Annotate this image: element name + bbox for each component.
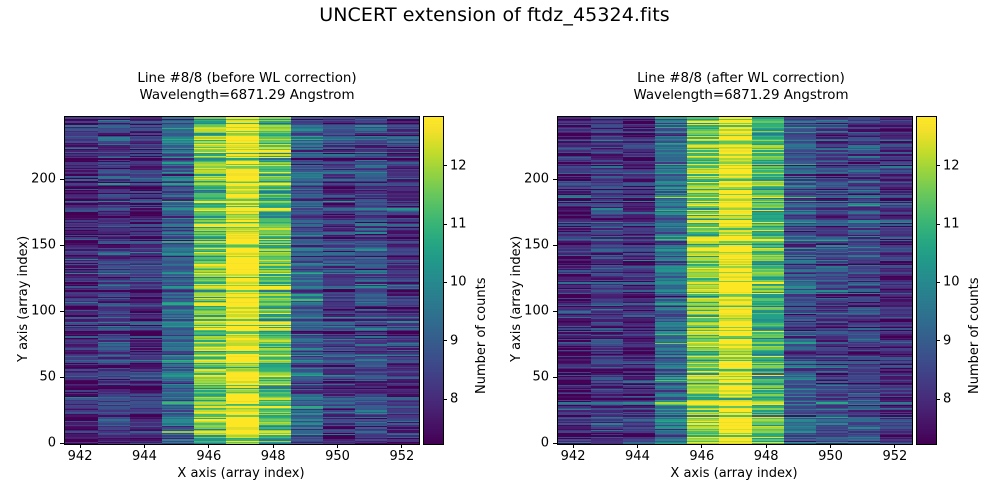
right-subplot-title: Line #8/8 (after WL correction) Waveleng… bbox=[493, 70, 989, 104]
x-tick-label: 948 bbox=[754, 449, 779, 464]
x-tick-mark bbox=[208, 444, 209, 448]
x-tick-label: 948 bbox=[261, 449, 286, 464]
y-tick-mark bbox=[553, 245, 557, 246]
y-tick-label: 50 bbox=[20, 370, 56, 385]
left-subplot: Line #8/8 (before WL correction) Wavelen… bbox=[0, 0, 494, 495]
right-x-axis-label: X axis (array index) bbox=[557, 466, 911, 481]
x-tick-label: 942 bbox=[561, 449, 586, 464]
x-tick-label: 944 bbox=[625, 449, 650, 464]
x-tick-mark bbox=[637, 444, 638, 448]
left-x-axis-label: X axis (array index) bbox=[64, 466, 418, 481]
x-tick-mark bbox=[830, 444, 831, 448]
y-tick-mark bbox=[553, 377, 557, 378]
right-colorbar-label: Number of counts bbox=[967, 278, 982, 394]
x-tick-label: 950 bbox=[325, 449, 350, 464]
x-tick-mark bbox=[337, 444, 338, 448]
colorbar-tick-mark bbox=[936, 224, 940, 225]
colorbar-tick-mark bbox=[936, 399, 940, 400]
colorbar-tick-label: 12 bbox=[943, 158, 960, 173]
x-tick-label: 946 bbox=[196, 449, 221, 464]
y-tick-label: 200 bbox=[20, 172, 56, 187]
y-tick-label: 0 bbox=[20, 436, 56, 451]
x-tick-label: 942 bbox=[68, 449, 93, 464]
colorbar-tick-label: 10 bbox=[943, 275, 960, 290]
colorbar-tick-label: 9 bbox=[450, 333, 458, 348]
colorbar-tick-mark bbox=[936, 282, 940, 283]
x-tick-mark bbox=[766, 444, 767, 448]
colorbar-tick-mark bbox=[443, 165, 447, 166]
right-subplot: Line #8/8 (after WL correction) Waveleng… bbox=[493, 0, 989, 495]
right-heatmap-axes[interactable] bbox=[557, 116, 913, 445]
x-tick-label: 952 bbox=[882, 449, 907, 464]
x-tick-label: 946 bbox=[689, 449, 714, 464]
left-heatmap-axes[interactable] bbox=[64, 116, 420, 445]
y-tick-mark bbox=[60, 179, 64, 180]
y-tick-mark bbox=[553, 311, 557, 312]
colorbar-tick-label: 9 bbox=[943, 333, 951, 348]
colorbar-tick-mark bbox=[443, 224, 447, 225]
matplotlib-figure: UNCERT extension of ftdz_45324.fits Line… bbox=[0, 0, 989, 495]
y-tick-mark bbox=[553, 443, 557, 444]
x-tick-label: 952 bbox=[389, 449, 414, 464]
colorbar-tick-mark bbox=[443, 282, 447, 283]
colorbar-tick-mark bbox=[443, 399, 447, 400]
right-y-axis-label: Y axis (array index) bbox=[509, 236, 524, 362]
left-colorbar bbox=[423, 116, 444, 445]
x-tick-mark bbox=[273, 444, 274, 448]
colorbar-tick-mark bbox=[936, 340, 940, 341]
colorbar-tick-mark bbox=[443, 340, 447, 341]
x-tick-mark bbox=[894, 444, 895, 448]
colorbar-tick-label: 11 bbox=[943, 217, 960, 232]
y-tick-mark bbox=[60, 377, 64, 378]
left-subplot-title: Line #8/8 (before WL correction) Wavelen… bbox=[0, 70, 494, 104]
y-tick-label: 200 bbox=[513, 172, 549, 187]
x-tick-mark bbox=[701, 444, 702, 448]
x-tick-mark bbox=[401, 444, 402, 448]
x-tick-mark bbox=[573, 444, 574, 448]
x-tick-mark bbox=[80, 444, 81, 448]
colorbar-tick-label: 8 bbox=[943, 392, 951, 407]
y-tick-mark bbox=[60, 311, 64, 312]
x-tick-label: 950 bbox=[818, 449, 843, 464]
colorbar-tick-label: 12 bbox=[450, 158, 467, 173]
left-y-axis-label: Y axis (array index) bbox=[16, 236, 31, 362]
x-tick-label: 944 bbox=[132, 449, 157, 464]
y-tick-label: 0 bbox=[513, 436, 549, 451]
colorbar-tick-label: 10 bbox=[450, 275, 467, 290]
y-tick-mark bbox=[60, 245, 64, 246]
colorbar-tick-mark bbox=[936, 165, 940, 166]
x-tick-mark bbox=[144, 444, 145, 448]
right-colorbar bbox=[916, 116, 937, 445]
y-tick-mark bbox=[60, 443, 64, 444]
colorbar-tick-label: 11 bbox=[450, 217, 467, 232]
left-colorbar-label: Number of counts bbox=[474, 278, 489, 394]
y-tick-mark bbox=[553, 179, 557, 180]
y-tick-label: 50 bbox=[513, 370, 549, 385]
colorbar-tick-label: 8 bbox=[450, 392, 458, 407]
